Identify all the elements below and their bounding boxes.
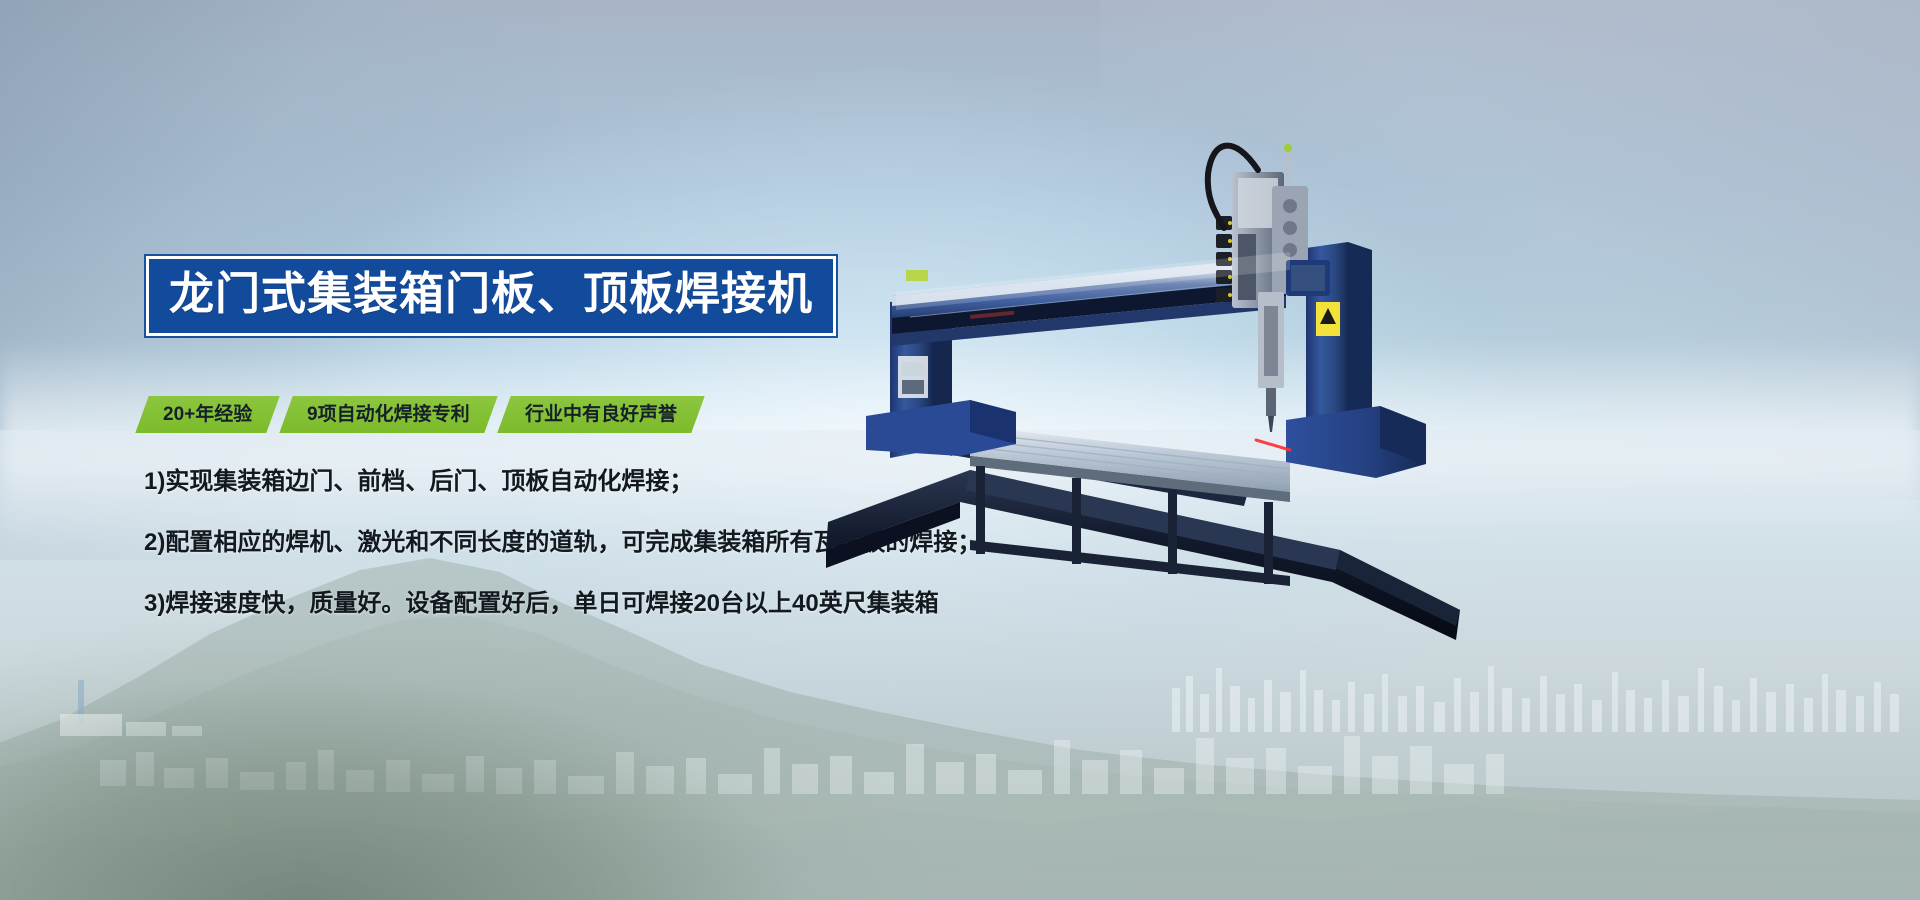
feature-badge-patents: 9项自动化焊接专利 — [280, 396, 498, 433]
banner-stage: 龙门式集装箱门板、顶板焊接机 20+年经验 9项自动化焊接专利 行业中有良好声誉… — [0, 0, 1920, 900]
feature-badge-reputation-label: 行业中有良好声誉 — [525, 396, 677, 433]
page-title: 龙门式集装箱门板、顶板焊接机 — [169, 269, 813, 319]
feature-badge-experience-label: 20+年经验 — [163, 396, 252, 433]
feature-badge-patents-label: 9项自动化焊接专利 — [307, 396, 470, 433]
feature-badge-reputation: 行业中有良好声誉 — [497, 396, 704, 433]
feature-badge-experience: 20+年经验 — [135, 396, 280, 433]
feature-badge-list: 20+年经验 9项自动化焊接专利 行业中有良好声誉 — [142, 396, 711, 433]
banner-content: 龙门式集装箱门板、顶板焊接机 20+年经验 9项自动化焊接专利 行业中有良好声誉… — [0, 0, 900, 900]
banner-title-box: 龙门式集装箱门板、顶板焊接机 — [146, 256, 836, 336]
product-image-gantry-welder — [820, 120, 1520, 680]
